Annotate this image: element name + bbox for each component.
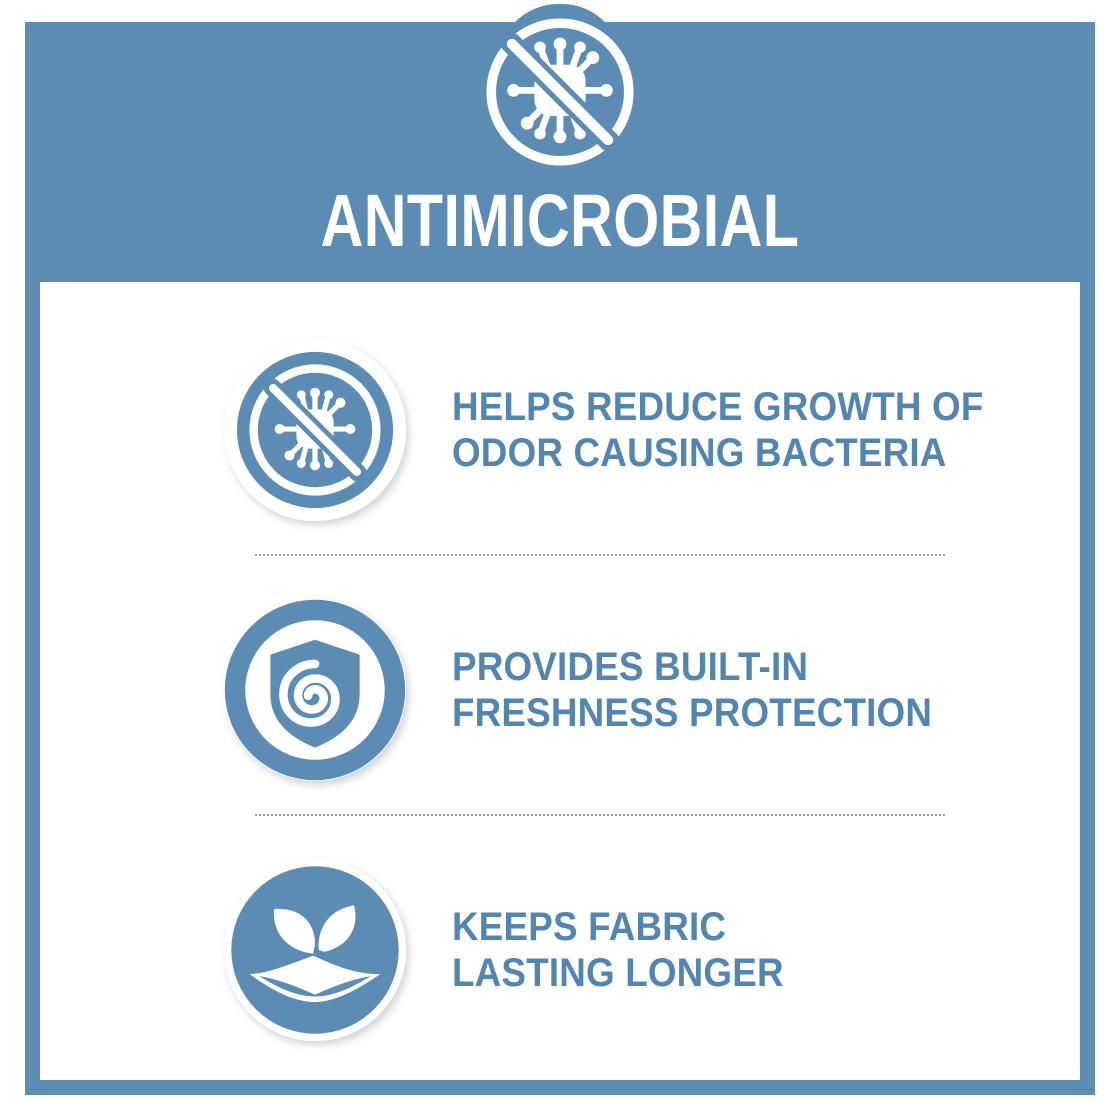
header: ANTIMICROBIAL	[25, 4, 1095, 282]
feature-label: KEEPS FABRIC LASTING LONGER	[452, 904, 784, 996]
no-germ-circle-icon	[222, 337, 408, 523]
feature-row: PROVIDES BUILT-IN FRESHNESS PROTECTION	[40, 590, 1080, 790]
divider	[255, 814, 945, 816]
divider	[255, 554, 945, 556]
feature-row: KEEPS FABRIC LASTING LONGER	[40, 850, 1080, 1050]
feature-label: PROVIDES BUILT-IN FRESHNESS PROTECTION	[452, 644, 932, 736]
feature-row: HELPS REDUCE GROWTH OF ODOR CAUSING BACT…	[40, 330, 1080, 530]
no-germ-icon	[480, 12, 640, 172]
feature-label: HELPS REDUCE GROWTH OF ODOR CAUSING BACT…	[452, 384, 984, 476]
content-card: HELPS REDUCE GROWTH OF ODOR CAUSING BACT…	[40, 282, 1080, 1080]
infographic-canvas: ANTIMICROBIAL	[0, 0, 1120, 1120]
page-title: ANTIMICROBIAL	[132, 184, 988, 258]
sprout-leaf-icon	[222, 857, 408, 1043]
shield-swirl-icon	[222, 597, 408, 783]
